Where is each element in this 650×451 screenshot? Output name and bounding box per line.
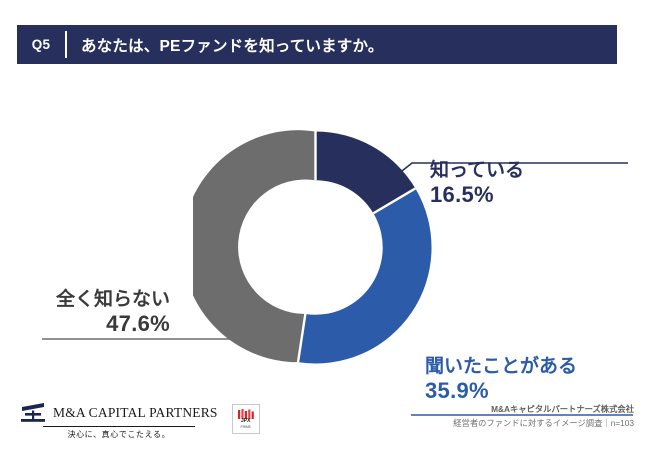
callout-known-label: 知っている xyxy=(430,160,524,182)
callout-unknown: 全く知らない 47.6% xyxy=(56,289,170,337)
footer: M&A CAPITAL PARTNERS 決心に、真心でこたえる。 JPX PR… xyxy=(0,392,650,451)
logo-block: M&A CAPITAL PARTNERS 決心に、真心でこたえる。 JPX PR… xyxy=(20,402,260,440)
company-logo: M&A CAPITAL PARTNERS 決心に、真心でこたえる。 xyxy=(20,402,218,440)
logo-rule xyxy=(43,426,195,427)
footer-survey: 経営者のファンドに対するイメージ調査｜n=103 xyxy=(453,417,634,431)
jpx-badge-sub: PRIME xyxy=(241,425,251,429)
company-logo-name: M&A CAPITAL PARTNERS xyxy=(53,405,218,421)
donut-chart xyxy=(193,125,438,370)
question-number: Q5 xyxy=(17,37,65,52)
chart-area: 知っている 16.5% 聞いたことがある 35.9% 全く知らない 47.6% xyxy=(0,70,650,390)
callout-known-value: 16.5% xyxy=(430,182,524,208)
question-text: あなたは、PEファンドを知っていますか。 xyxy=(81,34,384,56)
donut-slice-heard xyxy=(298,188,431,363)
donut-slice-unknown xyxy=(193,130,316,362)
donut-svg xyxy=(193,125,438,370)
company-logo-mark-icon xyxy=(20,402,46,424)
callout-unknown-label: 全く知らない xyxy=(56,289,170,311)
callout-heard-label: 聞いたことがある xyxy=(425,356,577,378)
company-tagline: 決心に、真心でこたえる。 xyxy=(67,429,170,440)
callout-unknown-value: 47.6% xyxy=(56,311,170,337)
jpx-prime-badge: JPX PRIME xyxy=(232,404,260,434)
header-divider xyxy=(65,31,67,58)
callout-known: 知っている 16.5% xyxy=(430,160,524,208)
footer-credit: M&Aキャピタルパートナーズ株式会社 経営者のファンドに対するイメージ調査｜n=… xyxy=(453,403,634,430)
question-header-bar: Q5 あなたは、PEファンドを知っていますか。 xyxy=(17,25,617,64)
footer-company: M&Aキャピタルパートナーズ株式会社 xyxy=(453,403,634,417)
